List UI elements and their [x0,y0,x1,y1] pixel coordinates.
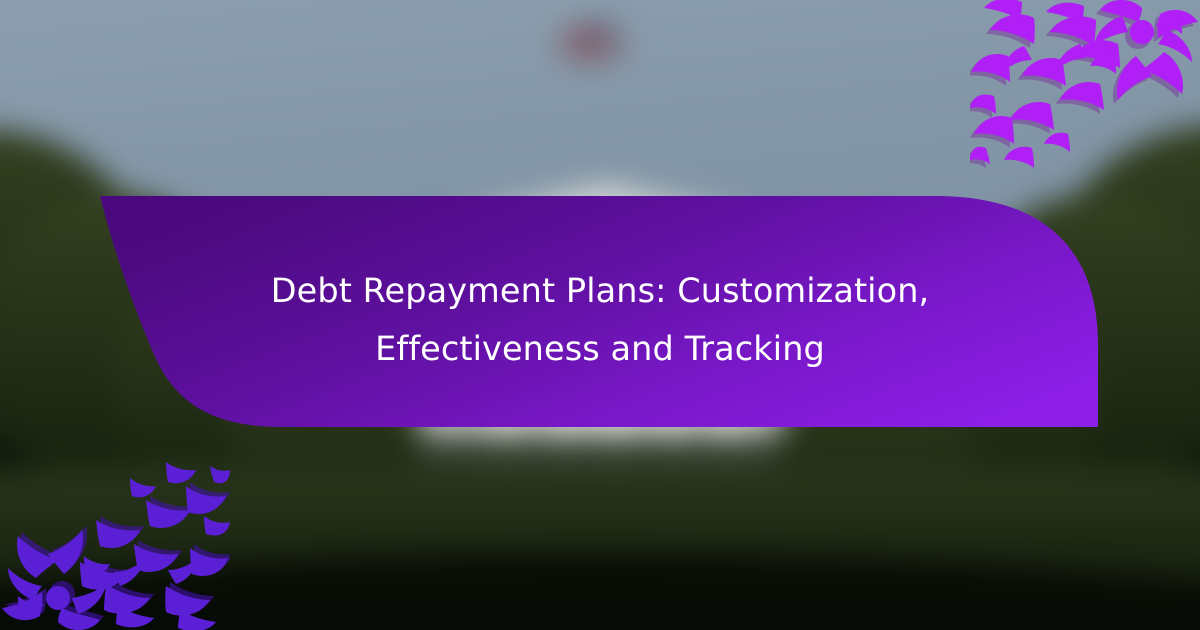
page-title-line-2: Effectiveness and Tracking [190,320,1010,378]
damask-corner-ornament-bottom-left [0,455,230,630]
share-card: Debt Repayment Plans: Customization, Eff… [0,0,1200,630]
page-title: Debt Repayment Plans: Customization, Eff… [190,262,1010,378]
damask-corner-ornament-top-right [970,0,1200,175]
page-title-line-1: Debt Repayment Plans: Customization, [190,262,1010,320]
